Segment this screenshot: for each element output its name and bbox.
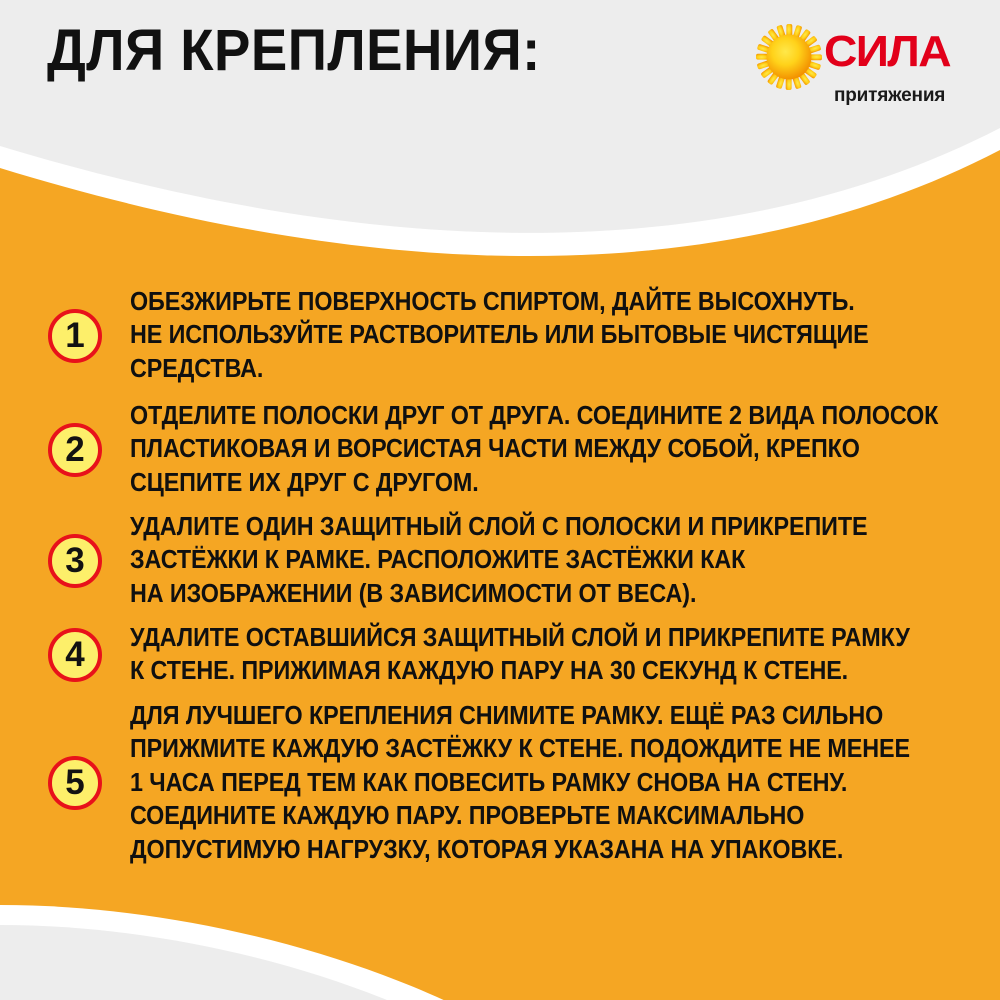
step-number-badge: 5 xyxy=(48,756,102,810)
list-item: 5 ДЛЯ ЛУЧШЕГО КРЕПЛЕНИЯ СНИМИТЕ РАМКУ. Е… xyxy=(48,700,948,867)
poster-canvas: ДЛЯ КРЕПЛЕНИЯ: xyxy=(0,0,1000,1000)
step-number-badge: 4 xyxy=(48,628,102,682)
step-text: ОБЕЗЖИРЬТЕ ПОВЕРХНОСТЬ СПИРТОМ, ДАЙТЕ ВЫ… xyxy=(130,286,878,386)
step-text-line: ДЛЯ ЛУЧШЕГО КРЕПЛЕНИЯ СНИМИТЕ РАМКУ. ЕЩЁ… xyxy=(130,700,910,733)
step-number-badge: 3 xyxy=(48,534,102,588)
step-text-line: 1 ЧАСА ПЕРЕД ТЕМ КАК ПОВЕСИТЬ РАМКУ СНОВ… xyxy=(130,767,910,800)
step-text-line: НЕ ИСПОЛЬЗУЙТЕ РАСТВОРИТЕЛЬ ИЛИ БЫТОВЫЕ … xyxy=(130,319,878,352)
step-text-line: К СТЕНЕ. ПРИЖИМАЯ КАЖДУЮ ПАРУ НА 30 СЕКУ… xyxy=(130,655,910,688)
step-number: 5 xyxy=(65,765,84,800)
instruction-steps-list: 1 ОБЕЗЖИРЬТЕ ПОВЕРХНОСТЬ СПИРТОМ, ДАЙТЕ … xyxy=(0,0,1000,1000)
step-text-line: ЗАСТЁЖКИ К РАМКЕ. РАСПОЛОЖИТЕ ЗАСТЁЖКИ К… xyxy=(130,544,878,577)
step-number: 3 xyxy=(65,543,84,578)
step-text-line: ОТДЕЛИТЕ ПОЛОСКИ ДРУГ ОТ ДРУГА. СОЕДИНИТ… xyxy=(130,400,938,433)
step-text-line: СЦЕПИТЕ ИХ ДРУГ С ДРУГОМ. xyxy=(130,467,938,500)
step-text: ОТДЕЛИТЕ ПОЛОСКИ ДРУГ ОТ ДРУГА. СОЕДИНИТ… xyxy=(130,400,938,500)
step-text-line: УДАЛИТЕ ОДИН ЗАЩИТНЫЙ СЛОЙ С ПОЛОСКИ И П… xyxy=(130,511,878,544)
step-text: ДЛЯ ЛУЧШЕГО КРЕПЛЕНИЯ СНИМИТЕ РАМКУ. ЕЩЁ… xyxy=(130,700,910,867)
step-text-line: СРЕДСТВА. xyxy=(130,353,878,386)
list-item: 4 УДАЛИТЕ ОСТАВШИЙСЯ ЗАЩИТНЫЙ СЛОЙ И ПРИ… xyxy=(48,622,948,689)
step-text-line: ПРИЖМИТЕ КАЖДУЮ ЗАСТЁЖКУ К СТЕНЕ. ПОДОЖД… xyxy=(130,733,910,766)
step-number-badge: 2 xyxy=(48,423,102,477)
step-text-line: ОБЕЗЖИРЬТЕ ПОВЕРХНОСТЬ СПИРТОМ, ДАЙТЕ ВЫ… xyxy=(130,286,878,319)
step-number: 2 xyxy=(65,432,84,467)
step-text-line: СОЕДИНИТЕ КАЖДУЮ ПАРУ. ПРОВЕРЬТЕ МАКСИМА… xyxy=(130,800,910,833)
step-text-line: УДАЛИТЕ ОСТАВШИЙСЯ ЗАЩИТНЫЙ СЛОЙ И ПРИКР… xyxy=(130,622,910,655)
list-item: 2 ОТДЕЛИТЕ ПОЛОСКИ ДРУГ ОТ ДРУГА. СОЕДИН… xyxy=(48,400,948,500)
step-number-badge: 1 xyxy=(48,309,102,363)
list-item: 3 УДАЛИТЕ ОДИН ЗАЩИТНЫЙ СЛОЙ С ПОЛОСКИ И… xyxy=(48,511,948,611)
list-item: 1 ОБЕЗЖИРЬТЕ ПОВЕРХНОСТЬ СПИРТОМ, ДАЙТЕ … xyxy=(48,286,948,386)
step-text-line: ПЛАСТИКОВАЯ И ВОРСИСТАЯ ЧАСТИ МЕЖДУ СОБО… xyxy=(130,433,938,466)
step-number: 1 xyxy=(65,318,84,353)
step-text-line: ДОПУСТИМУЮ НАГРУЗКУ, КОТОРАЯ УКАЗАНА НА … xyxy=(130,834,910,867)
step-text: УДАЛИТЕ ОДИН ЗАЩИТНЫЙ СЛОЙ С ПОЛОСКИ И П… xyxy=(130,511,878,611)
step-number: 4 xyxy=(65,637,84,672)
step-text: УДАЛИТЕ ОСТАВШИЙСЯ ЗАЩИТНЫЙ СЛОЙ И ПРИКР… xyxy=(130,622,910,689)
step-text-line: НА ИЗОБРАЖЕНИИ (В ЗАВИСИМОСТИ ОТ ВЕСА). xyxy=(130,578,878,611)
